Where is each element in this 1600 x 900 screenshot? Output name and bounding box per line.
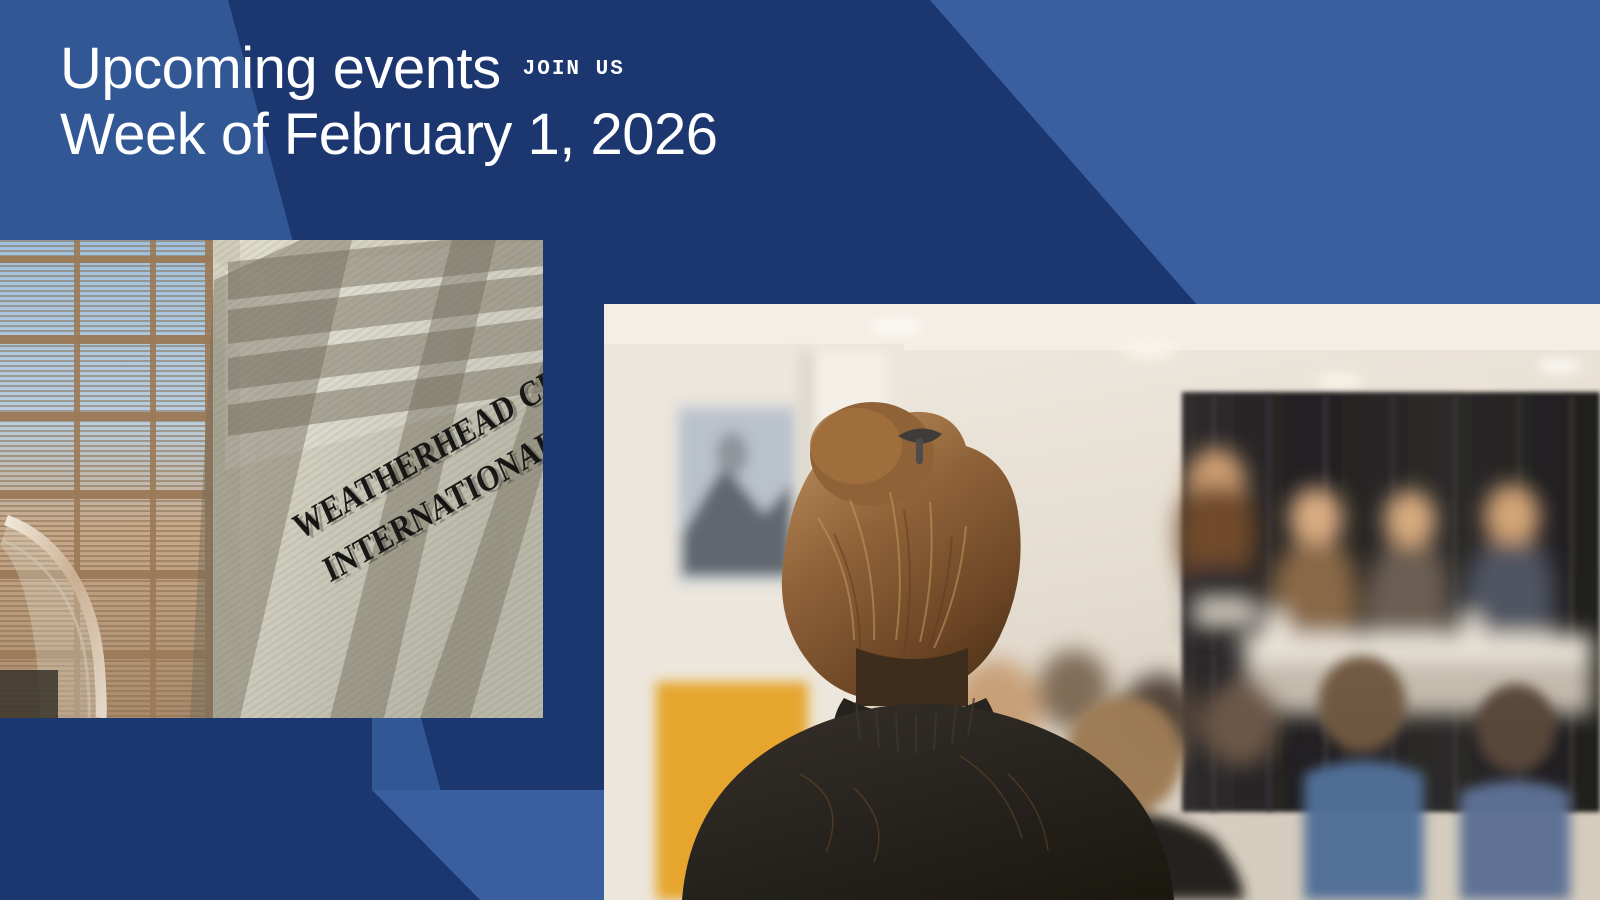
- photo-audience-art: [604, 304, 1600, 900]
- photo-building-signage: WEATHERHEAD CENTER FOR INTERNATIONAL AFF…: [0, 240, 543, 718]
- events-banner: Upcoming events JOIN US Week of February…: [0, 0, 1600, 900]
- photo-seminar-audience: [604, 304, 1600, 900]
- photo-building-art: WEATHERHEAD CENTER FOR INTERNATIONAL AFF…: [0, 240, 543, 718]
